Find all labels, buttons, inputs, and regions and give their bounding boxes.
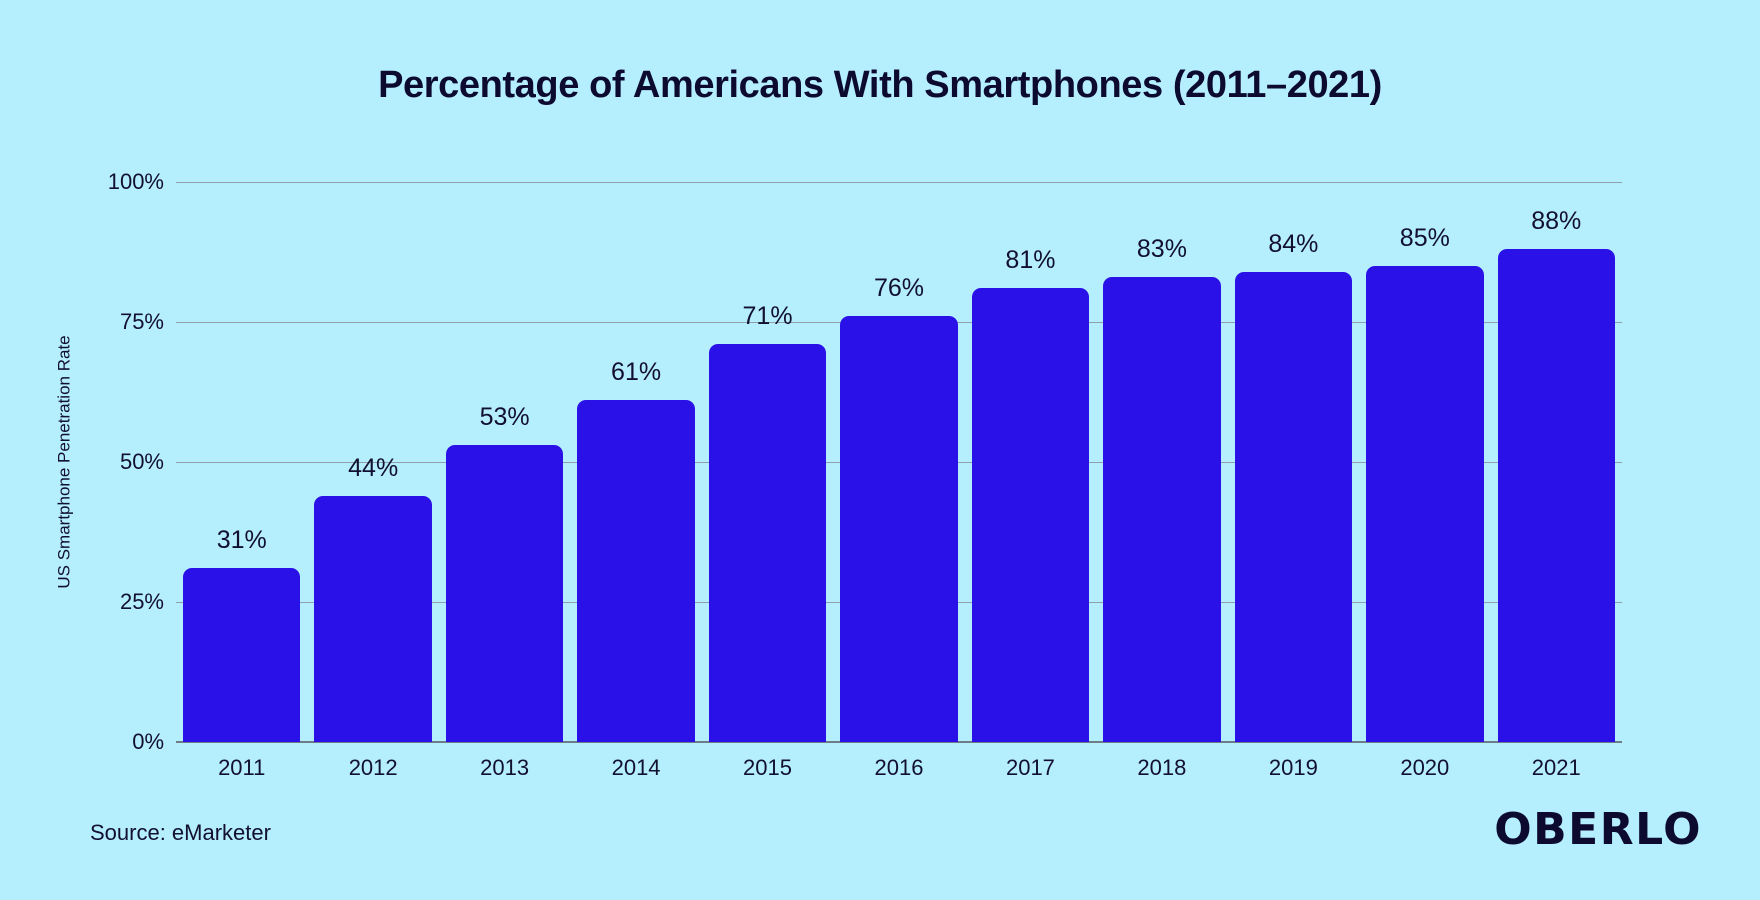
bar-value-label: 76% <box>874 274 924 303</box>
x-axis-tick-label: 2012 <box>349 755 398 781</box>
bar[interactable] <box>1366 266 1483 742</box>
bar-value-label: 71% <box>743 302 793 331</box>
bar-value-label: 81% <box>1005 246 1055 275</box>
bar[interactable] <box>183 568 300 742</box>
x-axis-tick-label: 2014 <box>612 755 661 781</box>
chart-page: Percentage of Americans With Smartphones… <box>0 0 1760 900</box>
bar-value-label: 31% <box>217 526 267 555</box>
y-axis-tick-label: 25% <box>78 589 164 615</box>
x-axis-tick-label: 2019 <box>1269 755 1318 781</box>
bar-value-label: 61% <box>611 358 661 387</box>
bar[interactable] <box>1498 249 1615 742</box>
bar-value-label: 88% <box>1531 207 1581 236</box>
y-axis-tick-label: 0% <box>78 729 164 755</box>
x-axis-tick-label: 2018 <box>1137 755 1186 781</box>
x-axis-tick-label: 2011 <box>218 755 265 781</box>
y-axis-tick-label: 100% <box>78 169 164 195</box>
x-axis-tick-label: 2017 <box>1006 755 1055 781</box>
x-axis-tick-label: 2015 <box>743 755 792 781</box>
bar-value-label: 53% <box>480 403 530 432</box>
x-axis-tick-label: 2021 <box>1532 755 1581 781</box>
y-axis-title: US Smartphone Penetration Rate <box>52 182 78 742</box>
y-axis-tick-label: 75% <box>78 309 164 335</box>
bar-value-label: 85% <box>1400 224 1450 253</box>
bar-value-label: 84% <box>1268 230 1318 259</box>
y-axis-title-text: US Smartphone Penetration Rate <box>55 335 75 588</box>
chart-plot-area: US Smartphone Penetration Rate 0%25%50%7… <box>0 0 1760 900</box>
bar[interactable] <box>1103 277 1220 742</box>
bar[interactable] <box>577 400 694 742</box>
bar[interactable] <box>446 445 563 742</box>
x-axis-tick-label: 2020 <box>1400 755 1449 781</box>
brand-logo: OBERLO <box>1494 808 1702 852</box>
gridline <box>176 182 1622 183</box>
bar-value-label: 83% <box>1137 235 1187 264</box>
bar[interactable] <box>314 496 431 742</box>
bar-value-label: 44% <box>348 454 398 483</box>
bar[interactable] <box>1235 272 1352 742</box>
bar[interactable] <box>709 344 826 742</box>
bar[interactable] <box>840 316 957 742</box>
x-axis-tick-label: 2016 <box>875 755 924 781</box>
source-note: Source: eMarketer <box>90 820 271 846</box>
x-axis-tick-label: 2013 <box>480 755 529 781</box>
y-axis-tick-label: 50% <box>78 449 164 475</box>
bar[interactable] <box>972 288 1089 742</box>
